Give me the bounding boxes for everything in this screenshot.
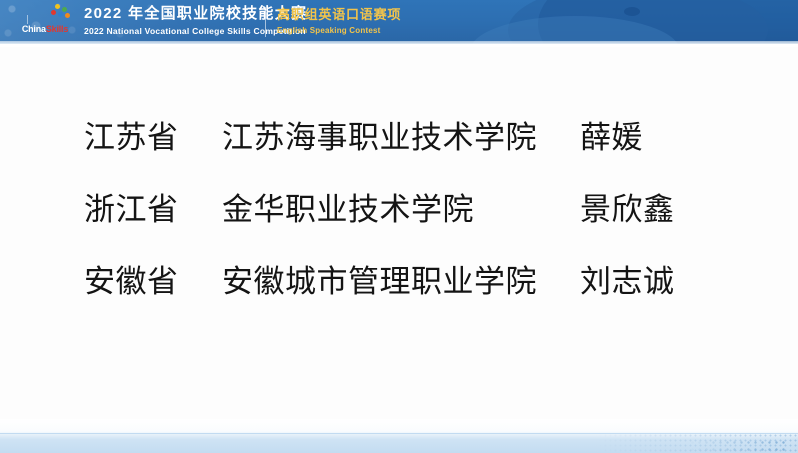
header-banner: ChinaSkills 2022 年全国职业院校技能大赛 2022 Nation… (0, 0, 798, 44)
banner-title-group: 2022 年全国职业院校技能大赛 2022 National Vocationa… (84, 5, 307, 37)
row-contestant-name: 薛媛 (580, 119, 643, 157)
footer-halftone-texture-dense (668, 439, 788, 453)
table-row: 江苏省 江苏海事职业技术学院 薛媛 (0, 119, 798, 191)
row-contestant-name: 刘志诚 (580, 263, 675, 301)
footer-band (0, 419, 798, 453)
logo-dots-icon (44, 4, 74, 20)
contestant-roster: 江苏省 江苏海事职业技术学院 薛媛 浙江省 金华职业技术学院 景欣鑫 安徽省 安… (0, 119, 798, 335)
table-row: 浙江省 金华职业技术学院 景欣鑫 (0, 191, 798, 263)
logo-stem (27, 15, 28, 24)
row-school: 金华职业技术学院 (222, 191, 474, 229)
banner-accent-dot (624, 7, 640, 16)
chinaskills-logo: ChinaSkills (12, 4, 78, 40)
logo-wordmark: ChinaSkills (12, 24, 78, 34)
banner-divider (265, 7, 266, 37)
banner-title-chinese: 2022 年全国职业院校技能大赛 (84, 5, 307, 23)
banner-subtitle-group: 高职组英语口语赛项 English Speaking Contest (277, 6, 401, 36)
table-row: 安徽省 安徽城市管理职业学院 刘志诚 (0, 263, 798, 335)
row-province: 浙江省 (84, 191, 179, 229)
row-school: 江苏海事职业技术学院 (222, 119, 537, 157)
banner-subtitle-english: English Speaking Contest (277, 25, 401, 36)
row-contestant-name: 景欣鑫 (580, 191, 675, 229)
row-school: 安徽城市管理职业学院 (222, 263, 537, 301)
slide-content: 江苏省 江苏海事职业技术学院 薛媛 浙江省 金华职业技术学院 景欣鑫 安徽省 安… (0, 47, 798, 419)
presentation-slide: ChinaSkills 2022 年全国职业院校技能大赛 2022 Nation… (0, 0, 798, 453)
banner-title-english: 2022 National Vocational College Skills … (84, 25, 307, 37)
row-province: 江苏省 (84, 119, 179, 157)
logo-wordmark-skills: Skills (46, 24, 68, 34)
banner-subtitle-chinese: 高职组英语口语赛项 (277, 6, 401, 23)
row-province: 安徽省 (84, 263, 179, 301)
banner-bottom-edge (0, 41, 798, 44)
logo-wordmark-china: China (22, 24, 46, 34)
